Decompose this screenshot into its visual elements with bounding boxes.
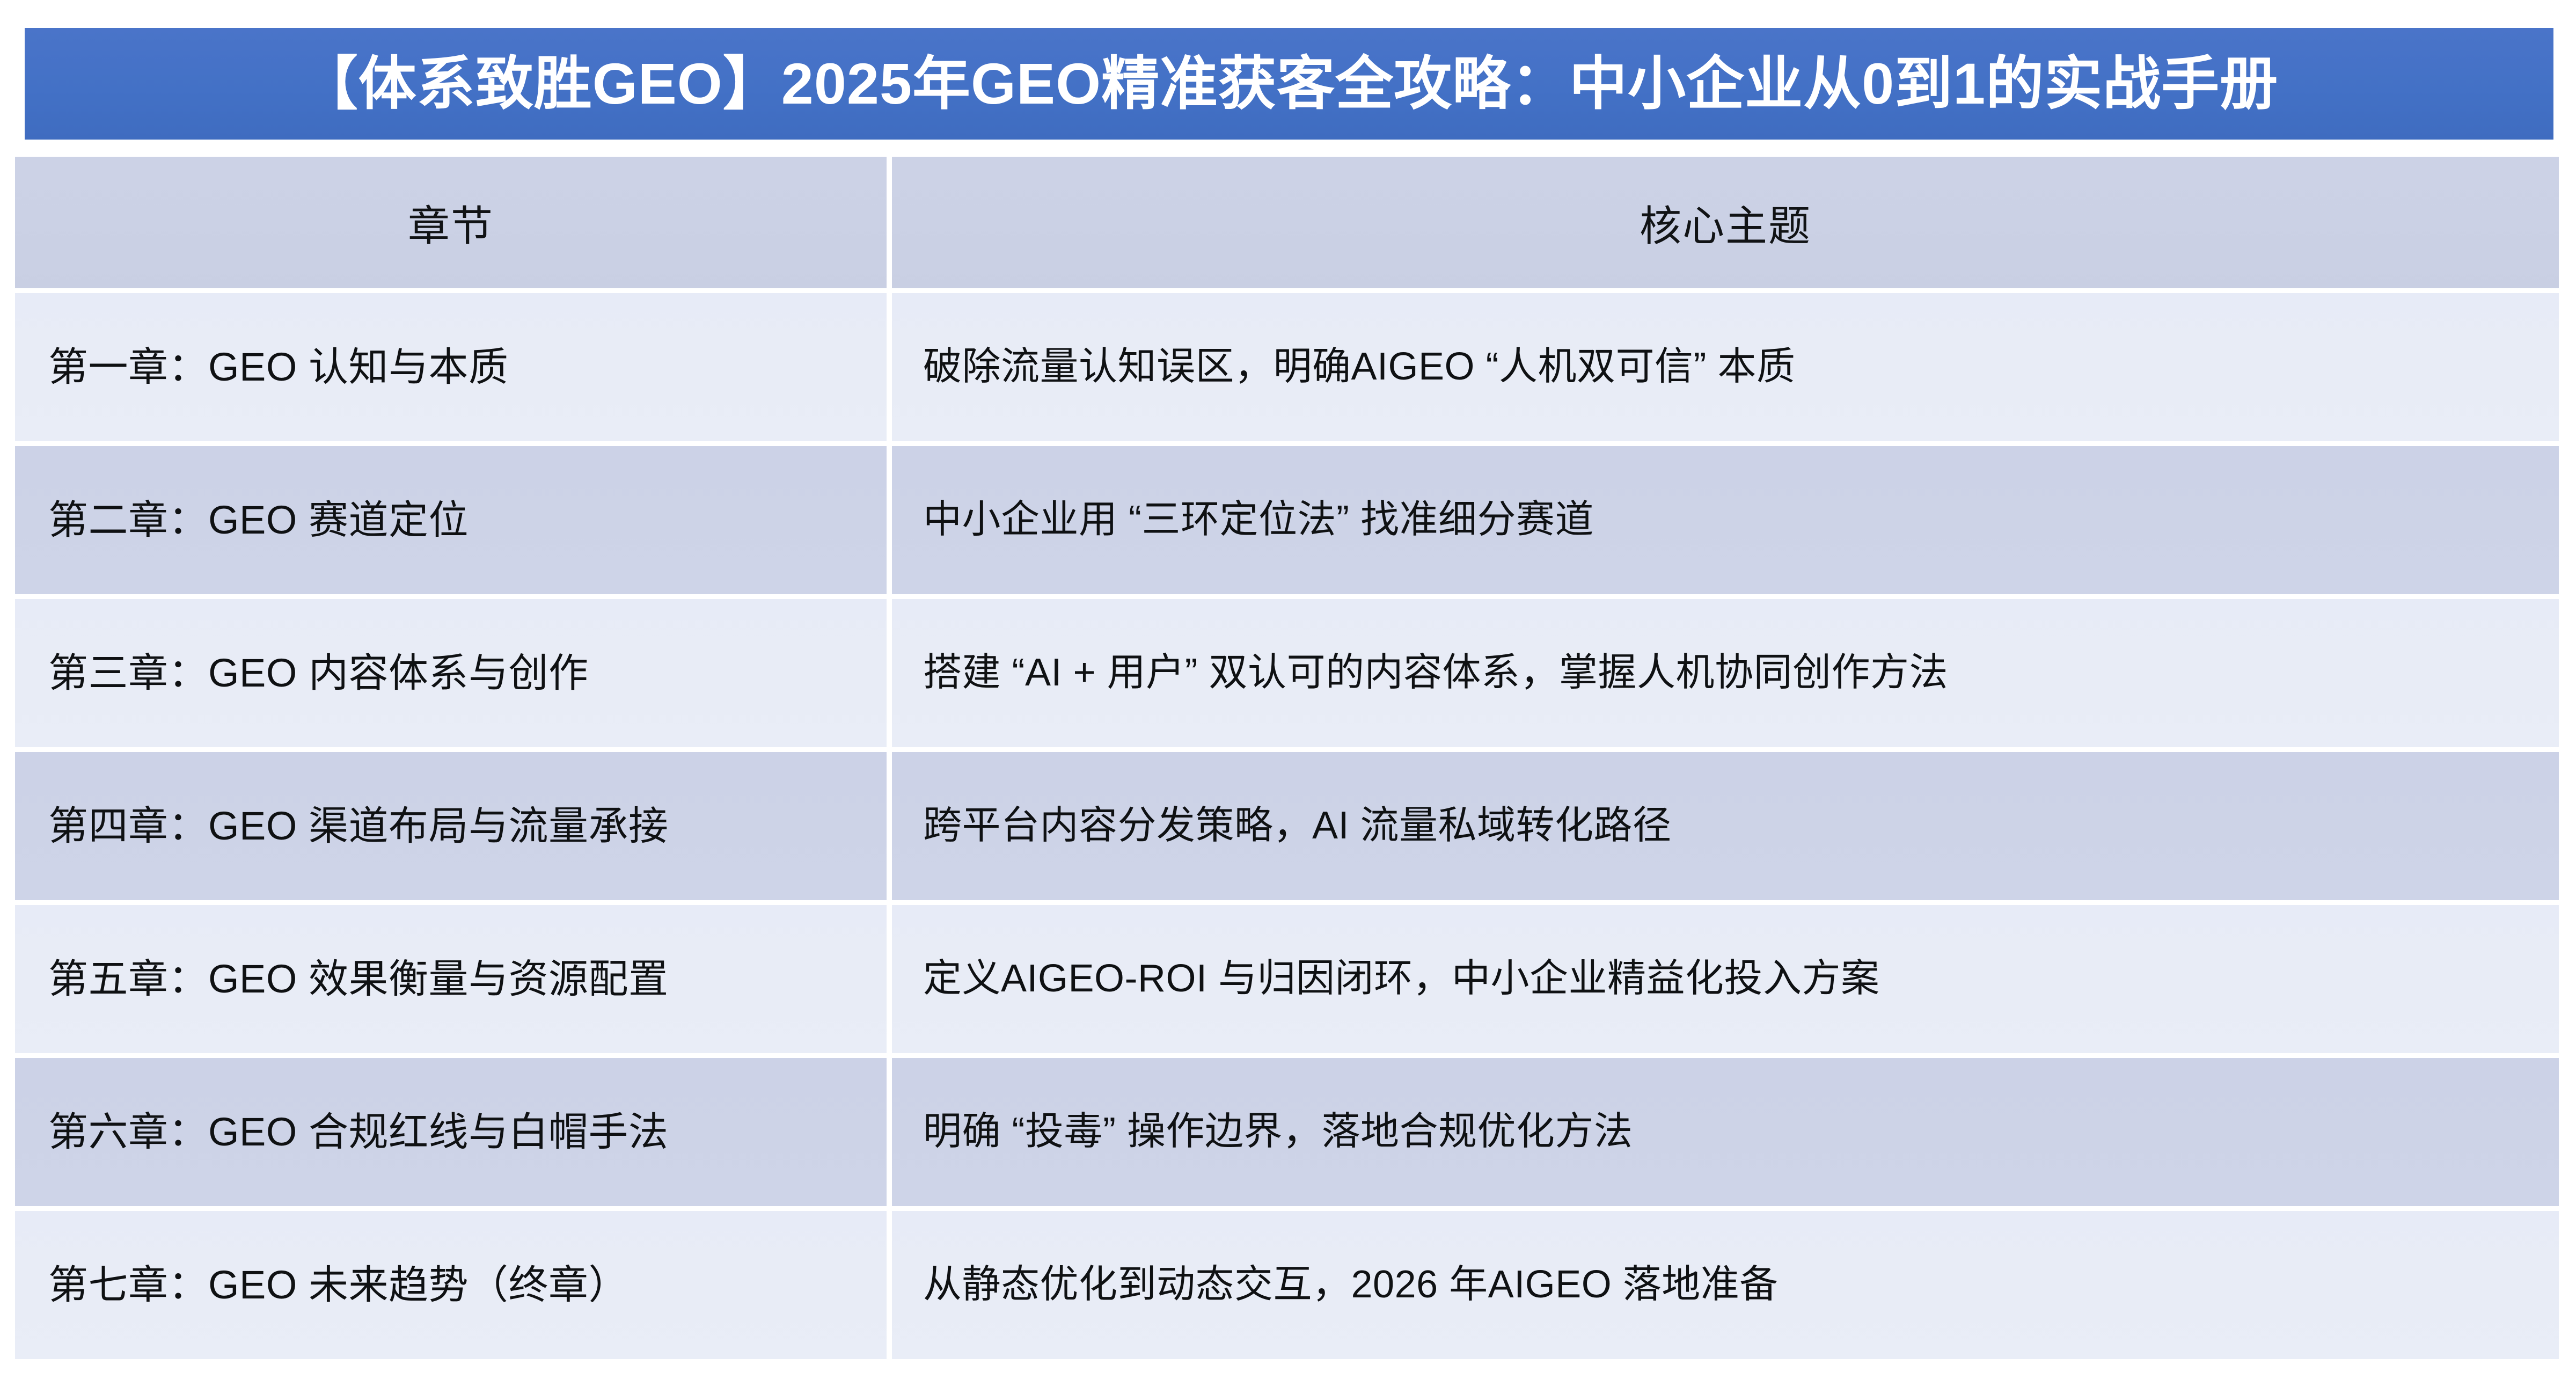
chapter-label: 第二章：GEO 赛道定位	[48, 498, 469, 542]
cell-topic: 搭建 “AI + 用户” 双认可的内容体系，掌握人机协同创作方法	[892, 599, 2559, 747]
table-row: 第一章：GEO 认知与本质 破除流量认知误区，明确AIGEO “人机双可信” 本…	[15, 293, 2559, 441]
topic-label: 搭建 “AI + 用户” 双认可的内容体系，掌握人机协同创作方法	[923, 652, 1948, 694]
topic-label: 从静态优化到动态交互，2026 年AIGEO 落地准备	[923, 1264, 1779, 1306]
column-header-topic-label: 核心主题	[1640, 193, 1811, 253]
page-title: 【体系致胜GEO】2025年GEO精准获客全攻略：中小企业从0到1的实战手册	[300, 55, 2278, 113]
topic-label: 中小企业用 “三环定位法” 找准细分赛道	[923, 499, 1594, 541]
table-row: 第二章：GEO 赛道定位 中小企业用 “三环定位法” 找准细分赛道	[15, 446, 2559, 594]
cell-topic: 跨平台内容分发策略，AI 流量私域转化路径	[892, 752, 2559, 900]
cell-topic: 明确 “投毒” 操作边界，落地合规优化方法	[892, 1058, 2559, 1206]
cell-topic: 定义AIGEO-ROI 与归因闭环，中小企业精益化投入方案	[892, 905, 2559, 1053]
column-header-topic: 核心主题	[892, 157, 2559, 288]
chapter-label: 第六章：GEO 合规红线与白帽手法	[48, 1110, 669, 1154]
chapter-label: 第三章：GEO 内容体系与创作	[48, 651, 589, 695]
column-header-chapter: 章节	[15, 157, 887, 288]
chapter-label: 第五章：GEO 效果衡量与资源配置	[48, 957, 669, 1001]
table-row: 第六章：GEO 合规红线与白帽手法 明确 “投毒” 操作边界，落地合规优化方法	[15, 1058, 2559, 1206]
cell-chapter: 第五章：GEO 效果衡量与资源配置	[15, 905, 887, 1053]
topic-label: 破除流量认知误区，明确AIGEO “人机双可信” 本质	[923, 346, 1796, 388]
cell-chapter: 第一章：GEO 认知与本质	[15, 293, 887, 441]
table-row: 第七章：GEO 未来趋势（终章） 从静态优化到动态交互，2026 年AIGEO …	[15, 1211, 2559, 1359]
cell-topic: 破除流量认知误区，明确AIGEO “人机双可信” 本质	[892, 293, 2559, 441]
cell-chapter: 第三章：GEO 内容体系与创作	[15, 599, 887, 747]
chapter-outline-table: 章节 核心主题 第一章：GEO 认知与本质 破除流量认知误区，明确AIGEO “…	[15, 157, 2559, 1371]
column-header-chapter-label: 章节	[408, 193, 494, 253]
topic-label: 明确 “投毒” 操作边界，落地合规优化方法	[923, 1111, 1633, 1153]
cell-topic: 中小企业用 “三环定位法” 找准细分赛道	[892, 446, 2559, 594]
topic-label: 定义AIGEO-ROI 与归因闭环，中小企业精益化投入方案	[923, 958, 1880, 1000]
slide-title-banner: 【体系致胜GEO】2025年GEO精准获客全攻略：中小企业从0到1的实战手册	[25, 28, 2553, 140]
chapter-label: 第四章：GEO 渠道布局与流量承接	[48, 804, 669, 848]
table-row: 第四章：GEO 渠道布局与流量承接 跨平台内容分发策略，AI 流量私域转化路径	[15, 752, 2559, 900]
cell-chapter: 第四章：GEO 渠道布局与流量承接	[15, 752, 887, 900]
cell-topic: 从静态优化到动态交互，2026 年AIGEO 落地准备	[892, 1211, 2559, 1359]
table-row: 第三章：GEO 内容体系与创作 搭建 “AI + 用户” 双认可的内容体系，掌握…	[15, 599, 2559, 747]
cell-chapter: 第七章：GEO 未来趋势（终章）	[15, 1211, 887, 1359]
cell-chapter: 第二章：GEO 赛道定位	[15, 446, 887, 594]
table-row: 第五章：GEO 效果衡量与资源配置 定义AIGEO-ROI 与归因闭环，中小企业…	[15, 905, 2559, 1053]
cell-chapter: 第六章：GEO 合规红线与白帽手法	[15, 1058, 887, 1206]
chapter-label: 第一章：GEO 认知与本质	[48, 345, 509, 389]
slide-canvas: 【体系致胜GEO】2025年GEO精准获客全攻略：中小企业从0到1的实战手册 章…	[0, 0, 2576, 1394]
topic-label: 跨平台内容分发策略，AI 流量私域转化路径	[923, 805, 1672, 847]
table-header-row: 章节 核心主题	[15, 157, 2559, 288]
chapter-label: 第七章：GEO 未来趋势（终章）	[48, 1263, 628, 1307]
